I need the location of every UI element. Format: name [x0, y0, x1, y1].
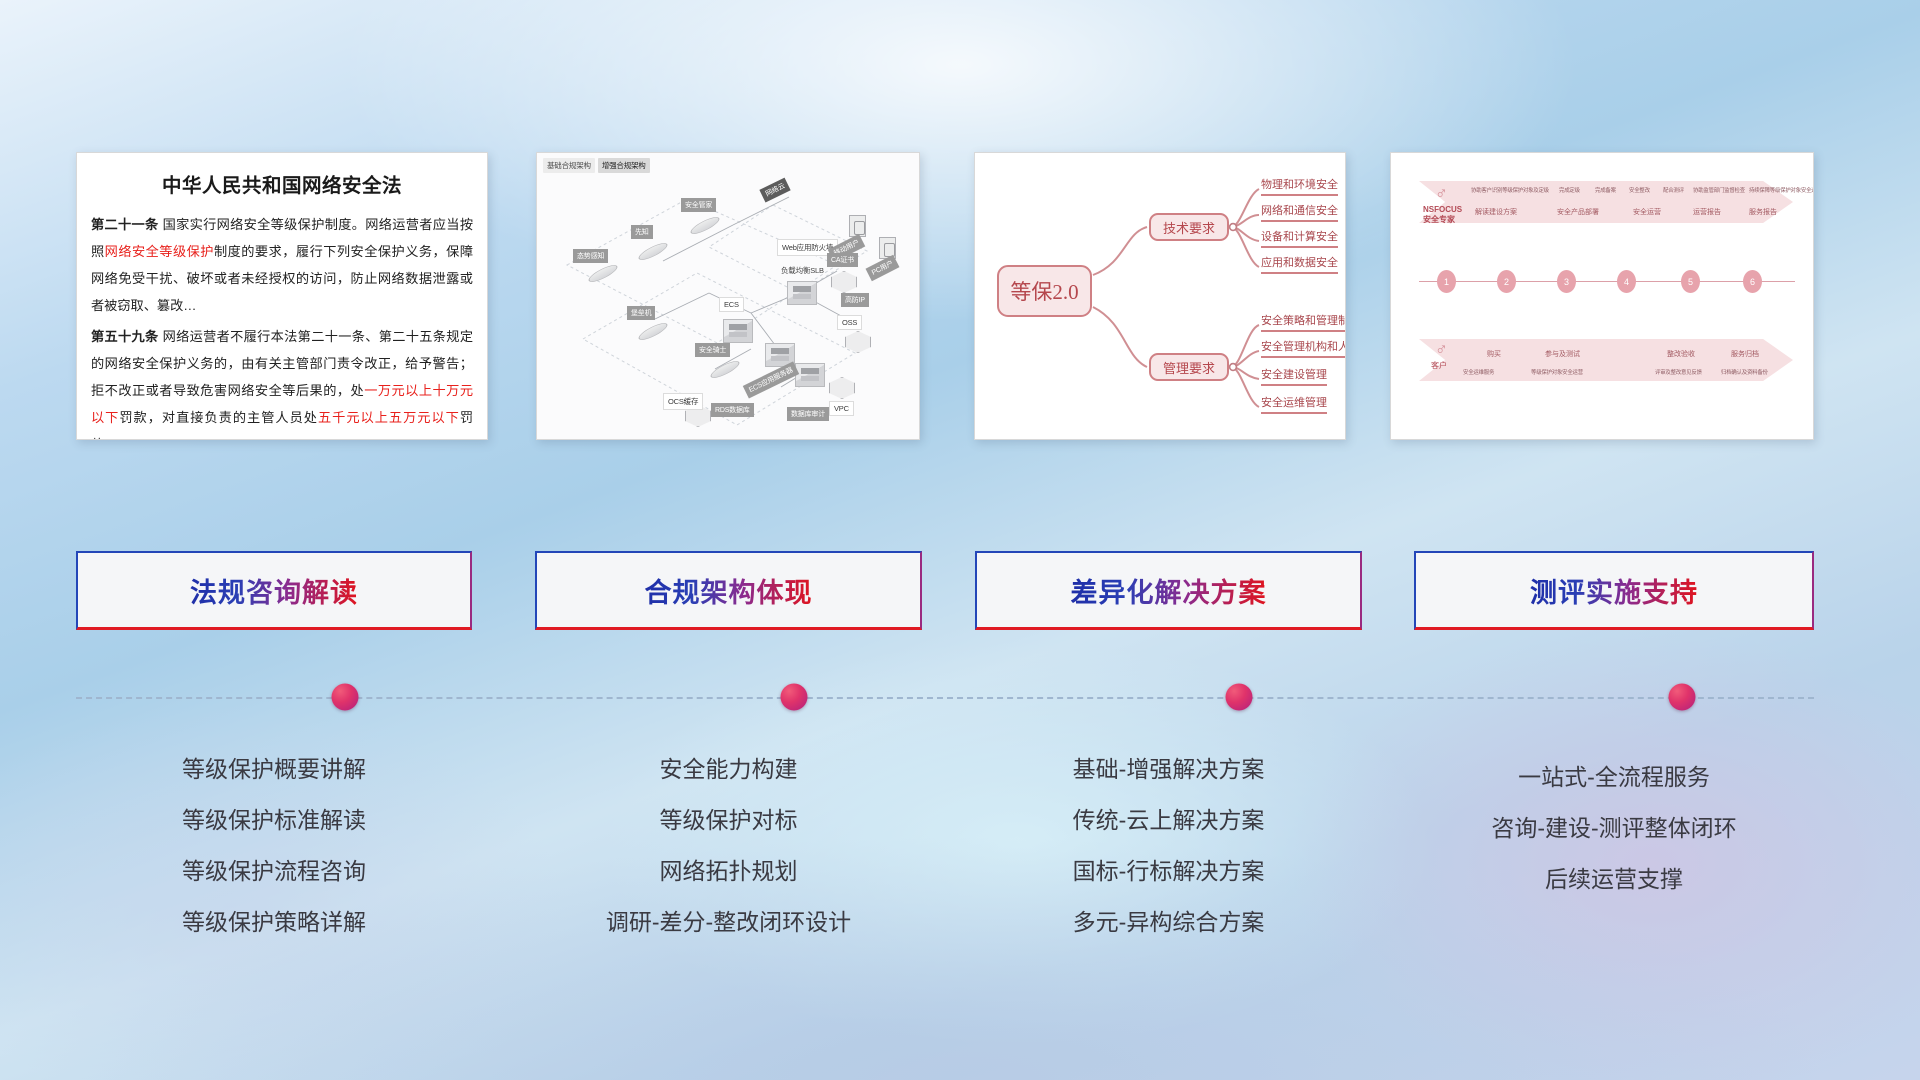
- list-item: 安全能力构建: [535, 744, 922, 795]
- roadmap-timeline-line: [1419, 281, 1795, 282]
- list-item: 多元-异构综合方案: [975, 897, 1362, 948]
- list-item: 等级保护流程咨询: [76, 846, 472, 897]
- arch-icon-db-audit: [795, 363, 825, 387]
- arch-label-situational-awareness: 态势感知: [573, 249, 608, 263]
- mindmap-branch-technical[interactable]: 技术要求: [1149, 213, 1229, 241]
- list-item: 等级保护标准解读: [76, 795, 472, 846]
- roadmap-bottom-tiny-2: 评审及整改意见反馈: [1655, 368, 1702, 376]
- article-21-label: 第二十一条: [91, 217, 159, 232]
- timeline-dot-2[interactable]: [780, 684, 807, 711]
- mindmap-leaf-security-org-personnel[interactable]: 安全管理机构和人员: [1261, 338, 1346, 358]
- law-document-title: 中华人民共和国网络安全法: [91, 169, 473, 198]
- section-header-label-3: 测评实施支持: [1530, 571, 1698, 610]
- law-document-card[interactable]: 中华人民共和国网络安全法 第二十一条 国家实行网络安全等级保护制度。网络运营者应…: [76, 152, 488, 440]
- mindmap-leaf-security-construction-mgmt[interactable]: 安全建设管理: [1261, 366, 1327, 386]
- roadmap-bottom-tiny-0: 安全运维服务: [1463, 368, 1494, 376]
- law-article-59: 第五十九条 网络运营者不履行本法第二十一条、第二十五条规定的网络安全保护义务的，…: [91, 323, 473, 440]
- arch-label-security-butler: 安全管家: [681, 198, 716, 212]
- article-21-highlight: 网络安全等级保护: [105, 244, 214, 259]
- timeline-dot-3[interactable]: [1225, 684, 1252, 711]
- roadmap-stage-label-4: 服务报告: [1749, 207, 1777, 217]
- roadmap-brand-label: NSFOCUS 安全专家: [1423, 205, 1462, 225]
- roadmap-bottom-label-3: 服务归档: [1731, 349, 1759, 359]
- roadmap-card[interactable]: ♂ NSFOCUS 安全专家 协助客户识别等级保护对象及定级 完成定级 完成备案…: [1390, 152, 1814, 440]
- roadmap-tiny-2: 完成备案: [1595, 186, 1616, 194]
- arch-label-ca-cert: CA证书: [827, 253, 858, 267]
- list-item: 国标-行标解决方案: [975, 846, 1362, 897]
- list-item: 后续运营支撑: [1414, 854, 1814, 905]
- roadmap-tiny-5: 协助监管部门监督检查: [1693, 186, 1745, 194]
- roadmap-bottom-tiny-1: 等级保护对象安全运营: [1531, 368, 1583, 376]
- arch-label-security-knight: 安全骑士: [695, 343, 730, 357]
- timeline-dot-4[interactable]: [1668, 684, 1695, 711]
- list-item: 等级保护策略详解: [76, 897, 472, 948]
- expert-person-icon: ♂: [1435, 185, 1448, 202]
- article-59-text-part2: 罚款，对直接负责的主管人员处: [119, 410, 318, 425]
- arch-label-anti-ddos-ip: 高防IP: [841, 293, 869, 307]
- article-59-highlight-2: 五千元以上五万元以下: [318, 410, 460, 425]
- mindmap-leaf-app-data-security[interactable]: 应用和数据安全: [1261, 254, 1338, 274]
- bullet-column-3: 一站式-全流程服务 咨询-建设-测评整体闭环 后续运营支撑: [1414, 752, 1814, 905]
- roadmap-step-5[interactable]: 5: [1681, 270, 1700, 293]
- roadmap-bottom-tiny-3: 归档确认及资料备份: [1721, 368, 1768, 376]
- list-item: 咨询-建设-测评整体闭环: [1414, 803, 1814, 854]
- roadmap-tiny-0: 协助客户识别等级保护对象及定级: [1471, 186, 1549, 194]
- arch-label-ocs-cache: OCS缓存: [663, 393, 703, 410]
- roadmap-bottom-label-1: 参与及测试: [1545, 349, 1580, 359]
- arch-label-bastion: 堡垒机: [627, 306, 655, 320]
- client-person-icon: ♂: [1435, 341, 1448, 358]
- list-item: 基础-增强解决方案: [975, 744, 1362, 795]
- law-article-21: 第二十一条 国家实行网络安全等级保护制度。网络运营者应当按照网络安全等级保护制度…: [91, 211, 473, 319]
- list-item: 等级保护对标: [535, 795, 922, 846]
- roadmap-tiny-6: 持续保障等级保护对象安全运营: [1749, 186, 1814, 194]
- mindmap-leaf-network-comm-security[interactable]: 网络和通信安全: [1261, 202, 1338, 222]
- arch-label-rds: RDS数据库: [711, 403, 754, 417]
- arch-icon-ecs: [723, 319, 753, 343]
- arch-label-vpc: VPC: [829, 401, 854, 416]
- roadmap-bottom-label-0: 购买: [1487, 349, 1501, 359]
- roadmap-step-3[interactable]: 3: [1557, 270, 1576, 293]
- article-59-label: 第五十九条: [91, 329, 159, 344]
- arch-label-ecs: ECS: [719, 297, 744, 312]
- mindmap-leaf-device-compute-security[interactable]: 设备和计算安全: [1261, 228, 1338, 248]
- timeline-dot-1[interactable]: [332, 684, 359, 711]
- list-item: 传统-云上解决方案: [975, 795, 1362, 846]
- roadmap-step-1[interactable]: 1: [1437, 270, 1456, 293]
- brand-subtitle: 安全专家: [1423, 215, 1462, 225]
- bullet-column-2: 基础-增强解决方案 传统-云上解决方案 国标-行标解决方案 多元-异构综合方案: [975, 744, 1362, 948]
- arch-label-slb: 负载均衡SLB: [781, 265, 824, 276]
- mindmap-branch-management[interactable]: 管理要求: [1149, 353, 1229, 381]
- list-item: 调研-差分-整改闭环设计: [535, 897, 922, 948]
- section-header-differentiated-solution[interactable]: 差异化解决方案: [975, 551, 1362, 630]
- roadmap-bottom-label-2: 整改验收: [1667, 349, 1695, 359]
- mindmap-leaf-security-ops-mgmt[interactable]: 安全运维管理: [1261, 394, 1327, 414]
- roadmap-tiny-3: 安全整改: [1629, 186, 1650, 194]
- bullet-column-1: 安全能力构建 等级保护对标 网络拓扑规划 调研-差分-整改闭环设计: [535, 744, 922, 948]
- roadmap-stage-label-3: 运营报告: [1693, 207, 1721, 217]
- bullet-column-0: 等级保护概要讲解 等级保护标准解读 等级保护流程咨询 等级保护策略详解: [76, 744, 472, 948]
- brand-name: NSFOCUS: [1423, 205, 1462, 215]
- arch-label-oss: OSS: [837, 315, 862, 330]
- arch-label-xianzhi: 先知: [631, 225, 653, 239]
- section-header-assessment-support[interactable]: 测评实施支持: [1414, 551, 1814, 630]
- roadmap-stage-label-0: 解读建设方案: [1475, 207, 1517, 217]
- mindmap-card[interactable]: 等保2.0 技术要求 管理要求 物理和环境安全 网络和通信安全 设备和计算安全 …: [974, 152, 1346, 440]
- roadmap-step-2[interactable]: 2: [1497, 270, 1516, 293]
- mindmap-root-node[interactable]: 等保2.0: [997, 265, 1092, 317]
- timeline: [76, 697, 1814, 700]
- roadmap-step-6[interactable]: 6: [1743, 270, 1762, 293]
- mindmap-leaf-physical-env-security[interactable]: 物理和环境安全: [1261, 176, 1338, 196]
- roadmap-tiny-4: 配合测评: [1663, 186, 1684, 194]
- cloud-architecture-card[interactable]: 基础合规架构 增强合规架构 网络云 堡垒机: [536, 152, 920, 440]
- section-header-label-1: 合规架构体现: [645, 571, 813, 610]
- list-item: 网络拓扑规划: [535, 846, 922, 897]
- architecture-canvas: 网络云 堡垒机 态势感知 先知 安全管家 ECS 安全骑士 OCS缓存 RDS数…: [537, 153, 919, 439]
- list-item: 等级保护概要讲解: [76, 744, 472, 795]
- arch-icon-slb: [787, 281, 817, 305]
- mindmap-leaf-security-policy-system[interactable]: 安全策略和管理制度: [1261, 312, 1346, 332]
- roadmap-step-4[interactable]: 4: [1617, 270, 1636, 293]
- section-header-label-2: 差异化解决方案: [1071, 571, 1267, 610]
- arch-label-db-audit: 数据库审计: [787, 407, 829, 421]
- roadmap-stage-label-1: 安全产品部署: [1557, 207, 1599, 217]
- roadmap-client-label: 客户: [1431, 361, 1447, 371]
- section-header-regulation-consulting[interactable]: 法规咨询解读: [76, 551, 472, 630]
- roadmap-stage-label-2: 安全运营: [1633, 207, 1661, 217]
- list-item: 一站式-全流程服务: [1414, 752, 1814, 803]
- roadmap-tiny-1: 完成定级: [1559, 186, 1580, 194]
- section-header-label-0: 法规咨询解读: [190, 571, 358, 610]
- section-header-compliance-architecture[interactable]: 合规架构体现: [535, 551, 922, 630]
